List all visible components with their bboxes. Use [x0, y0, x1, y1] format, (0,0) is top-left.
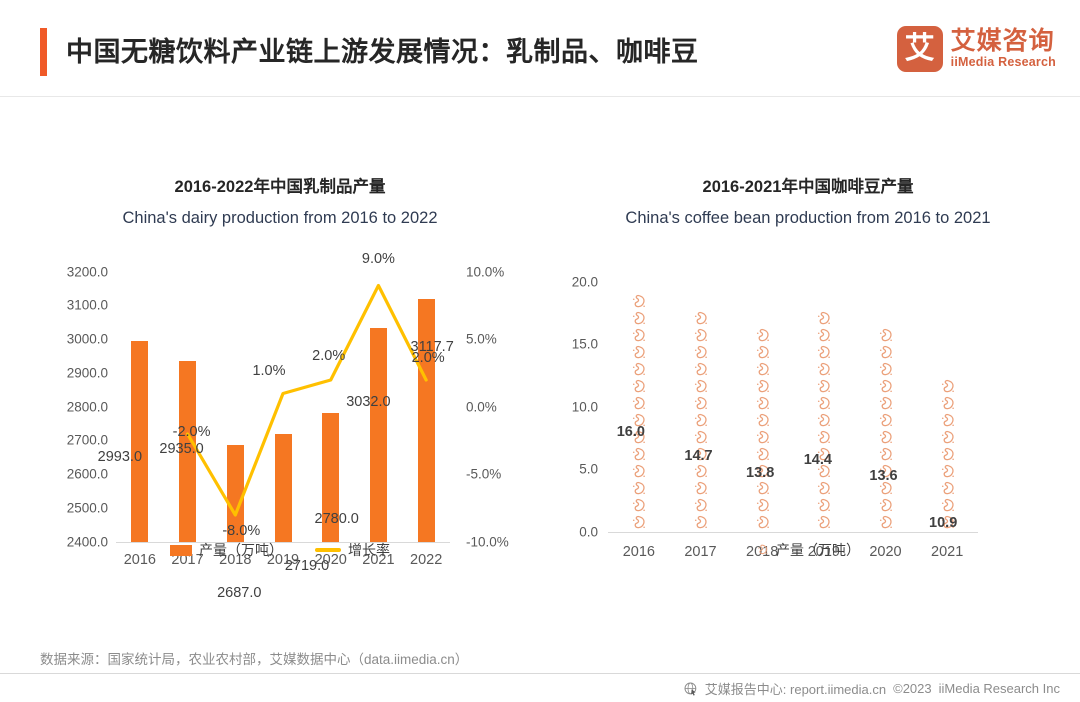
y-axis-tick: 5.0 — [548, 462, 598, 477]
legend-coffee: 产量（万吨） — [548, 540, 1068, 560]
footer-company: iiMedia Research Inc — [939, 681, 1060, 696]
coffee-bean-icon — [754, 362, 771, 379]
coffee-bean-icon — [877, 515, 894, 532]
coffee-bean-icon — [815, 396, 832, 413]
coffee-bean-icon — [754, 481, 771, 498]
globe-icon — [684, 682, 698, 696]
coffee-bean-icon — [939, 413, 956, 430]
bar-value-label: 2993.0 — [98, 449, 142, 465]
pictogram-value-label: 14.4 — [804, 452, 832, 468]
growth-rate-label: -8.0% — [222, 523, 260, 539]
coffee-bean-icon — [630, 515, 647, 532]
coffee-bean-icon — [815, 481, 832, 498]
coffee-bean-icon — [692, 396, 709, 413]
coffee-bean-icon — [754, 515, 771, 532]
legend-item[interactable]: 增长率 — [315, 540, 390, 560]
chart-title-en-dairy: China's dairy production from 2016 to 20… — [20, 207, 540, 229]
page-title: 中国无糖饮料产业链上游发展情况：乳制品、咖啡豆 — [66, 30, 699, 74]
coffee-bean-icon — [939, 481, 956, 498]
coffee-bean-icon — [692, 362, 709, 379]
coffee-bean-icon — [754, 328, 771, 345]
coffee-bean-icon — [630, 294, 647, 311]
coffee-bean-icon — [692, 379, 709, 396]
legend-label: 产量（万吨） — [776, 540, 860, 560]
coffee-bean-icon — [939, 464, 956, 481]
growth-rate-line — [20, 264, 540, 574]
bar-value-label: 2687.0 — [217, 585, 261, 601]
coffee-bean-icon — [692, 345, 709, 362]
pictogram-value-label: 10.9 — [929, 515, 957, 531]
legend-label: 增长率 — [348, 540, 390, 560]
chart-panel-dairy: 2016-2022年中国乳制品产量 China's dairy producti… — [20, 120, 540, 640]
legend-item[interactable]: 产量（万吨） — [756, 540, 860, 560]
pictogram-column-coffee — [815, 352, 832, 532]
chart-title-cn-coffee: 2016-2021年中国咖啡豆产量 — [548, 176, 1068, 198]
logo-text: 艾媒咨询 iiMedia Research — [951, 28, 1056, 69]
plot-area-dairy: 2400.02500.02600.02700.02800.02900.03000… — [20, 264, 540, 564]
coffee-bean-icon — [939, 498, 956, 515]
header-divider — [0, 96, 1080, 97]
bar-value-label: 2935.0 — [159, 441, 203, 457]
footer-copyright: ©2023 — [893, 681, 932, 696]
coffee-bean-icon — [754, 430, 771, 447]
coffee-bean-icon — [692, 515, 709, 532]
chart-title-cn-dairy: 2016-2022年中国乳制品产量 — [20, 176, 540, 198]
logo-mark-icon: 艾 — [897, 26, 943, 72]
coffee-bean-icon — [815, 430, 832, 447]
growth-rate-label: 2.0% — [312, 348, 345, 364]
coffee-bean-icon — [815, 362, 832, 379]
chart-panel-coffee: 2016-2021年中国咖啡豆产量 China's coffee bean pr… — [548, 120, 1068, 640]
legend-label: 产量（万吨） — [199, 540, 283, 560]
y-axis-tick: 20.0 — [548, 274, 598, 289]
coffee-bean-icon — [815, 498, 832, 515]
coffee-bean-icon — [877, 379, 894, 396]
coffee-bean-icon — [692, 481, 709, 498]
coffee-bean-icon — [630, 498, 647, 515]
chart-title-en-coffee: China's coffee bean production from 2016… — [548, 207, 1068, 229]
growth-rate-label: -2.0% — [173, 424, 211, 440]
logo-name-cn: 艾媒咨询 — [951, 28, 1056, 54]
coffee-bean-icon — [877, 345, 894, 362]
legend-swatch-bean-icon — [756, 544, 769, 557]
coffee-bean-icon — [630, 396, 647, 413]
coffee-bean-icon — [692, 413, 709, 430]
plot-area-coffee: 0.05.010.015.020.016.014.713.814.413.610… — [548, 264, 1068, 564]
coffee-bean-icon — [630, 464, 647, 481]
coffee-bean-icon — [815, 515, 832, 532]
coffee-bean-icon — [692, 430, 709, 447]
coffee-bean-icon — [815, 328, 832, 345]
y-axis-tick: 10.0 — [548, 399, 598, 414]
coffee-bean-icon — [630, 362, 647, 379]
coffee-bean-icon — [692, 311, 709, 328]
coffee-bean-icon — [630, 447, 647, 464]
coffee-bean-icon — [939, 447, 956, 464]
legend-swatch-bar — [170, 545, 192, 556]
logo-name-en: iiMedia Research — [951, 55, 1056, 70]
bar-value-label: 2780.0 — [315, 511, 359, 527]
coffee-bean-icon — [630, 311, 647, 328]
coffee-bean-icon — [754, 413, 771, 430]
pictogram-column-coffee — [877, 362, 894, 532]
legend-item[interactable]: 产量（万吨） — [170, 540, 283, 560]
brand-logo: 艾 艾媒咨询 iiMedia Research — [897, 26, 1056, 72]
coffee-bean-icon — [877, 447, 894, 464]
legend-dairy: 产量（万吨）增长率 — [20, 540, 540, 560]
coffee-bean-icon — [692, 464, 709, 481]
bar-value-label: 3032.0 — [346, 394, 390, 410]
growth-rate-label: 2.0% — [412, 350, 445, 366]
coffee-bean-icon — [939, 430, 956, 447]
x-axis-baseline — [608, 532, 978, 533]
pictogram-value-label: 13.6 — [869, 468, 897, 484]
coffee-bean-icon — [815, 413, 832, 430]
growth-rate-label: 1.0% — [252, 363, 285, 379]
coffee-bean-icon — [754, 498, 771, 515]
coffee-bean-icon — [630, 379, 647, 396]
coffee-bean-icon — [939, 379, 956, 396]
pictogram-column-coffee — [754, 359, 771, 532]
coffee-bean-icon — [877, 430, 894, 447]
coffee-bean-icon — [630, 481, 647, 498]
coffee-bean-icon — [754, 379, 771, 396]
source-note: 数据来源：国家统计局，农业农村部，艾媒数据中心（data.iimedia.cn） — [40, 648, 468, 668]
coffee-bean-icon — [815, 311, 832, 328]
page-header: 中国无糖饮料产业链上游发展情况：乳制品、咖啡豆 艾 艾媒咨询 iiMedia R… — [0, 0, 1080, 98]
coffee-bean-icon — [630, 345, 647, 362]
coffee-bean-icon — [815, 345, 832, 362]
pictogram-value-label: 14.7 — [684, 448, 712, 464]
footer-report-center: 艾媒报告中心: report.iimedia.cn — [705, 679, 886, 698]
pictogram-value-label: 13.8 — [746, 465, 774, 481]
coffee-bean-icon — [692, 328, 709, 345]
growth-rate-label: 9.0% — [362, 251, 395, 267]
coffee-bean-icon — [754, 396, 771, 413]
coffee-bean-icon — [939, 396, 956, 413]
coffee-bean-icon — [692, 498, 709, 515]
coffee-bean-icon — [754, 345, 771, 362]
pictogram-column-coffee — [692, 348, 709, 532]
pictogram-value-label: 16.0 — [617, 424, 645, 440]
coffee-bean-icon — [815, 379, 832, 396]
coffee-bean-icon — [877, 396, 894, 413]
coffee-bean-icon — [877, 328, 894, 345]
pictogram-column-coffee — [939, 395, 956, 531]
footer-divider — [0, 673, 1080, 674]
coffee-bean-icon — [877, 498, 894, 515]
coffee-bean-icon — [630, 328, 647, 345]
coffee-bean-icon — [877, 413, 894, 430]
legend-swatch-line — [315, 548, 341, 552]
coffee-bean-icon — [877, 362, 894, 379]
coffee-bean-icon — [754, 447, 771, 464]
page-footer: 艾媒报告中心: report.iimedia.cn ©2023 iiMedia … — [684, 679, 1060, 698]
y-axis-tick: 0.0 — [548, 524, 598, 539]
title-accent-bar — [40, 28, 47, 76]
y-axis-tick: 15.0 — [548, 337, 598, 352]
